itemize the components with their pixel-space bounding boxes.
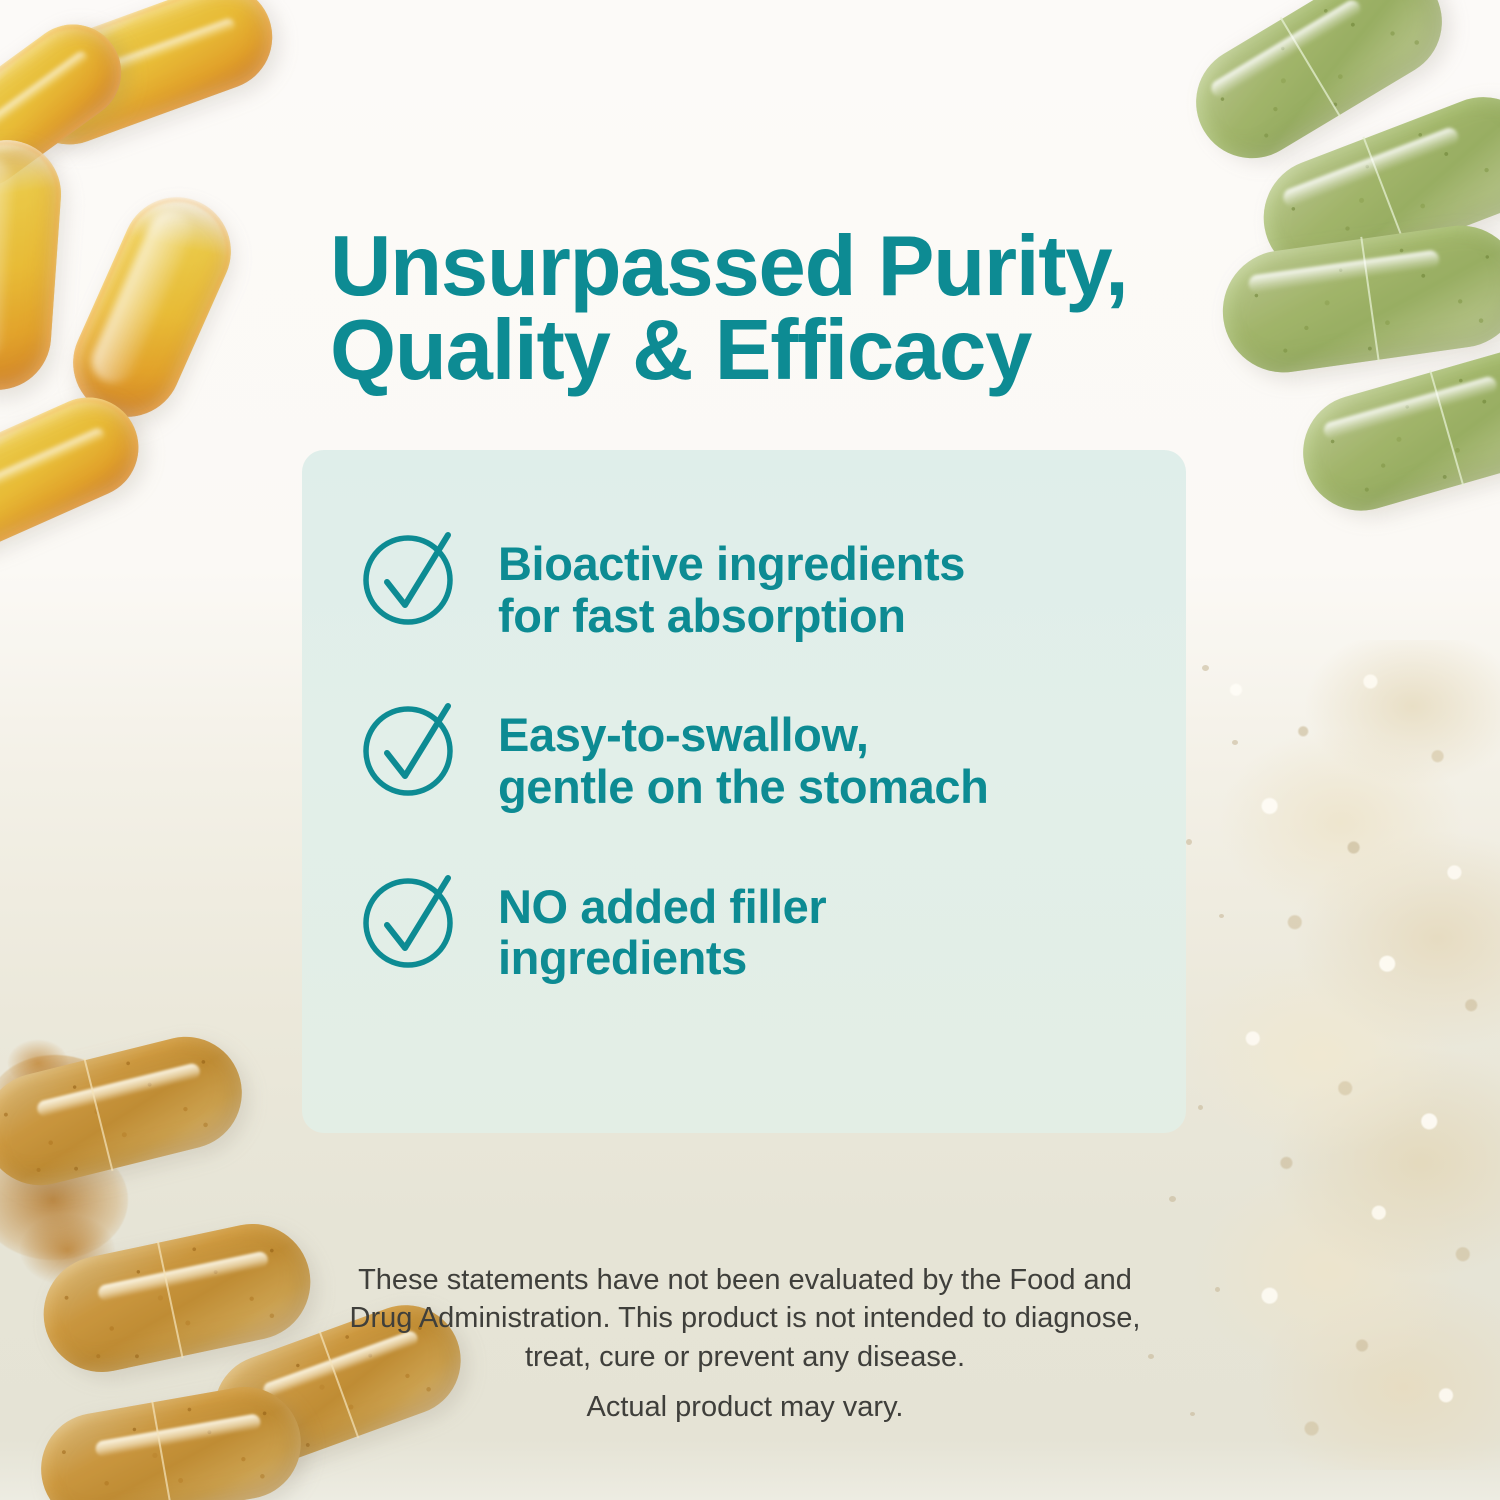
turmeric-capsule [33, 1213, 321, 1383]
softgel-capsule [56, 180, 248, 434]
feature-list: Bioactive ingredients for fast absorptio… [360, 528, 1146, 984]
product-vary-note: Actual product may vary. [300, 1391, 1190, 1424]
list-item: NO added filler ingredients [360, 871, 1146, 984]
check-circle-icon [360, 524, 464, 628]
spilled-powder [8, 1040, 68, 1086]
feature-label: Bioactive ingredients for fast absorptio… [498, 528, 965, 641]
feature-card: Bioactive ingredients for fast absorptio… [302, 450, 1186, 1133]
list-item: Bioactive ingredients for fast absorptio… [360, 528, 1146, 641]
turmeric-capsule [32, 1378, 309, 1500]
softgel-capsule [0, 382, 154, 567]
spilled-powder [0, 1055, 120, 1150]
feature-label: NO added filler ingredients [498, 871, 826, 984]
green-capsule [1175, 0, 1462, 179]
turmeric-capsule [0, 1025, 254, 1197]
softgel-capsule [2, 0, 287, 159]
fda-disclaimer: These statements have not been evaluated… [300, 1261, 1190, 1376]
softgel-capsule [0, 137, 65, 394]
product-feature-panel: Unsurpassed Purity, Quality & Efficacy B… [0, 0, 1500, 1500]
spilled-powder [20, 1215, 115, 1285]
green-capsule [1289, 336, 1500, 525]
check-circle-icon [360, 867, 464, 971]
page-title: Unsurpassed Purity, Quality & Efficacy [330, 225, 1210, 393]
green-capsule [1246, 80, 1500, 294]
spilled-powder [0, 1140, 128, 1260]
green-capsule [1215, 218, 1500, 381]
check-circle-icon [360, 695, 464, 799]
list-item: Easy-to-swallow, gentle on the stomach [360, 699, 1146, 812]
feature-label: Easy-to-swallow, gentle on the stomach [498, 699, 988, 812]
softgel-capsule [0, 5, 140, 206]
